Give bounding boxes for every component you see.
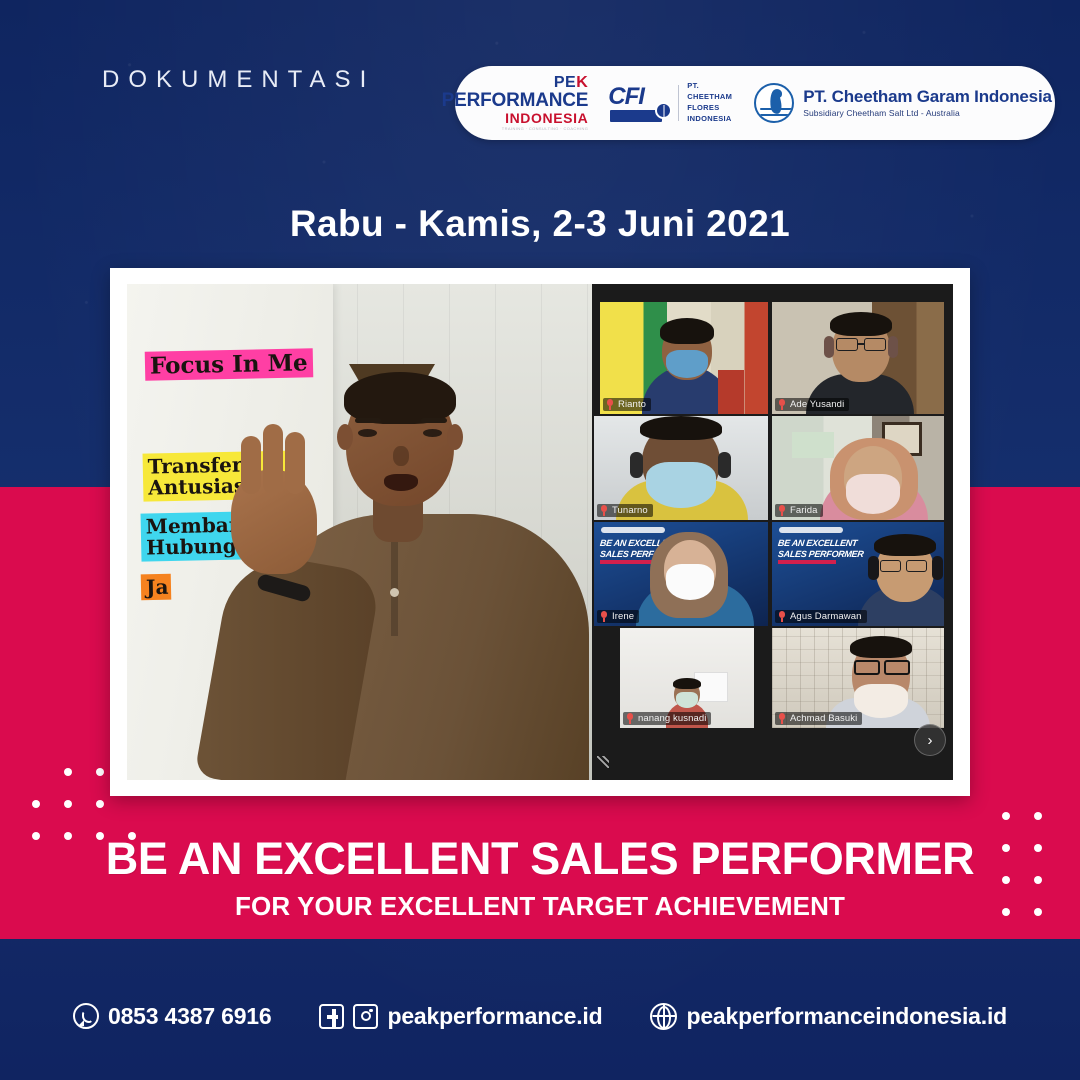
- participant-hair: [830, 312, 892, 336]
- camera-dot-shape: [369, 1009, 373, 1013]
- dot: [64, 800, 72, 808]
- video-canvas: Focus In Me Transfer Antusiasme Membangu…: [127, 284, 953, 780]
- participant-name-label: Farida: [775, 504, 823, 517]
- mic-muted-icon: [778, 505, 786, 516]
- participant-name: Farida: [790, 505, 818, 516]
- speaker-video-pane[interactable]: Focus In Me Transfer Antusiasme Membangu…: [127, 284, 592, 780]
- dot: [32, 800, 40, 808]
- seahorse-head-shape: [772, 89, 782, 98]
- sticky-note-partial: Ja: [141, 574, 172, 601]
- participant-gallery: Rianto Ade Yusandi: [592, 284, 952, 780]
- participant-face-mask: [646, 462, 716, 508]
- speaker-ear-left: [337, 424, 353, 450]
- cfi-globe-icon: [655, 102, 672, 119]
- participant-name: Achmad Basuki: [790, 713, 857, 724]
- participant-eyeglasses-right: [864, 338, 886, 351]
- chevron-right-icon: ›: [928, 732, 933, 749]
- sponsor-logo-bar: PEK PERFORMANCE INDONESIA TRAINING · CON…: [455, 66, 1055, 140]
- speaker-eye-right: [423, 429, 442, 437]
- dot: [96, 800, 104, 808]
- website-url: peakperformanceindonesia.id: [686, 1003, 1007, 1030]
- participant-name-label: Rianto: [603, 398, 651, 411]
- speaker-brow-left: [355, 418, 381, 423]
- peak-logo-tagline: TRAINING · CONSULTING · COACHING: [502, 127, 589, 131]
- dot: [1034, 812, 1042, 820]
- participant-face-mask: [666, 564, 714, 600]
- participant-headphone-left: [630, 452, 643, 478]
- speaker-ear-right: [447, 424, 463, 450]
- participant-hair: [673, 678, 701, 689]
- speaker-eye-left: [358, 429, 377, 437]
- speaker-hand: [231, 470, 317, 574]
- slide-accent-bar: [778, 560, 836, 564]
- cfi-subtext: PT. CHEETHAM FLORES INDONESIA: [687, 81, 732, 125]
- participant-tile[interactable]: BE AN EXCELLENT SALES PERFORMER Irene: [594, 522, 768, 626]
- speaker-figure: [223, 350, 592, 780]
- cfi-subtext-line1: PT.: [687, 81, 732, 92]
- peak-performance-logo: PEK PERFORMANCE INDONESIA TRAINING · CON…: [458, 75, 598, 131]
- cfi-wordmark: CFI: [608, 83, 644, 111]
- speaker-brow-right: [421, 418, 447, 423]
- participant-name-label: nanang kusnadi: [623, 712, 711, 725]
- headline-block: BE AN EXCELLENT SALES PERFORMER FOR YOUR…: [0, 836, 1080, 922]
- participant-eyeglasses-right: [884, 660, 910, 675]
- participant-eyeglasses-right: [906, 560, 927, 572]
- cheetham-company-name: PT. Cheetham Garam Indonesia: [803, 88, 1052, 106]
- dot: [96, 768, 104, 776]
- slide-status-bar: [779, 527, 843, 533]
- participant-eyeglasses-bridge: [858, 343, 864, 345]
- peak-logo-line3: INDONESIA: [505, 111, 588, 125]
- event-date: Rabu - Kamis, 2-3 Juni 2021: [0, 203, 1080, 245]
- participant-name-label: Achmad Basuki: [775, 712, 862, 725]
- next-page-button[interactable]: ›: [914, 724, 946, 756]
- whatsapp-icon: [73, 1003, 99, 1029]
- participant-hair: [874, 534, 936, 556]
- participant-headphone-left: [868, 556, 879, 580]
- mic-muted-icon: [600, 505, 608, 516]
- participant-face-mask: [676, 692, 698, 708]
- participant-eyeglasses-left: [880, 560, 901, 572]
- participant-eyeglasses-left: [836, 338, 858, 351]
- dot: [1002, 812, 1010, 820]
- cheetham-subsidiary-line: Subsidiary Cheetham Salt Ltd - Australia: [803, 108, 1052, 118]
- participant-name-label: Ade Yusandi: [775, 398, 849, 411]
- slide-status-bar: [601, 527, 665, 533]
- speaker-nose: [393, 446, 409, 466]
- speaker-shirt-button: [390, 588, 399, 597]
- participant-name-label: Tunarno: [597, 504, 653, 517]
- cheetham-garam-logo: PT. Cheetham Garam Indonesia Subsidiary …: [742, 83, 1052, 123]
- mic-muted-icon: [778, 611, 786, 622]
- participant-tile[interactable]: Tunarno: [594, 416, 768, 520]
- peak-logo-pea: PE: [554, 74, 576, 91]
- f-glyph: [330, 1009, 337, 1028]
- resize-handle[interactable]: [597, 756, 609, 768]
- dot: [32, 768, 40, 776]
- peak-logo-performance: PERFORMANCE: [442, 91, 589, 110]
- participant-tile[interactable]: Rianto: [600, 302, 768, 414]
- participant-name-label: Agus Darmawan: [775, 610, 867, 623]
- mic-muted-icon: [626, 713, 634, 724]
- event-headline: BE AN EXCELLENT SALES PERFORMER: [0, 836, 1080, 882]
- participant-headphone-right: [932, 556, 943, 580]
- participant-face-mask: [854, 684, 908, 718]
- speaker-mouth: [384, 474, 418, 491]
- participant-name: Irene: [612, 611, 634, 622]
- mic-muted-icon: [778, 399, 786, 410]
- wall-poster: [792, 432, 834, 458]
- participant-name: Rianto: [618, 399, 646, 410]
- speaker-finger: [241, 436, 261, 494]
- website-contact[interactable]: peakperformanceindonesia.id: [650, 1003, 1007, 1030]
- participant-tile[interactable]: Farida: [772, 416, 944, 520]
- phone-number: 0853 4387 6916: [108, 1003, 271, 1030]
- speaker-finger: [285, 432, 305, 494]
- slide-headline-line2: SALES PERFORMER: [777, 549, 864, 559]
- participant-headphone-right: [718, 452, 731, 478]
- wave-line-1: [760, 108, 792, 110]
- cfi-subtext-line3: FLORES: [687, 103, 732, 114]
- dot: [64, 768, 72, 776]
- participant-name: nanang kusnadi: [638, 713, 706, 724]
- participant-hair: [850, 636, 912, 658]
- cfi-subtext-line4: INDONESIA: [687, 114, 732, 125]
- social-contact[interactable]: peakperformance.id: [319, 1003, 602, 1030]
- participant-shoulder: [718, 370, 744, 414]
- social-handle: peakperformance.id: [387, 1003, 602, 1030]
- slide-headline-line1: BE AN EXCELLENT: [777, 538, 857, 548]
- participant-eyeglasses-left: [854, 660, 880, 675]
- globe-icon: [650, 1003, 677, 1030]
- peak-logo-k: K: [576, 74, 588, 91]
- bubble-tail-shape: [78, 1020, 84, 1026]
- cfi-mark-icon: CFI: [608, 83, 670, 123]
- speaker-finger: [263, 424, 283, 494]
- page-title: DOKUMENTASI: [102, 66, 375, 94]
- whatsapp-contact[interactable]: 0853 4387 6916: [73, 1003, 271, 1030]
- contact-footer: 0853 4387 6916 peakperformance.id peakpe…: [0, 990, 1080, 1042]
- logo-divider: [678, 85, 679, 121]
- camera-lens-shape: [361, 1011, 371, 1021]
- speaker-hair: [344, 372, 456, 424]
- participant-tile[interactable]: BE AN EXCELLENT SALES PERFORMER Agus Dar…: [772, 522, 944, 626]
- peak-logo-line1: PEK: [554, 75, 588, 91]
- globe-meridian-shape: [657, 1006, 671, 1029]
- participant-headphone-right: [888, 336, 898, 358]
- cheetham-text-block: PT. Cheetham Garam Indonesia Subsidiary …: [803, 88, 1052, 118]
- participant-face-mask: [666, 350, 708, 378]
- dot: [128, 800, 136, 808]
- participant-headphone-left: [824, 336, 834, 358]
- cfi-logo: CFI PT. CHEETHAM FLORES INDONESIA: [598, 81, 742, 125]
- cfi-subtext-line2: CHEETHAM: [687, 92, 732, 103]
- mic-muted-icon: [600, 611, 608, 622]
- participant-name-label: Irene: [597, 610, 639, 623]
- participant-hair: [640, 416, 722, 440]
- video-conference-screenshot: Focus In Me Transfer Antusiasme Membangu…: [110, 268, 970, 796]
- wave-line-2: [760, 114, 792, 116]
- mic-muted-icon: [778, 713, 786, 724]
- participant-face-mask: [846, 474, 900, 514]
- mic-muted-icon: [606, 399, 614, 410]
- facebook-icon: [319, 1004, 344, 1029]
- participant-name: Agus Darmawan: [790, 611, 862, 622]
- participant-name: Tunarno: [612, 505, 648, 516]
- peak-logo-line2: PERFORMANCE: [442, 91, 589, 110]
- participant-tile[interactable]: Achmad Basuki: [772, 628, 944, 728]
- participant-name: Ade Yusandi: [790, 399, 844, 410]
- poster-canvas: DOKUMENTASI PEK PERFORMANCE INDONESIA TR…: [0, 0, 1080, 1080]
- participant-tile[interactable]: Ade Yusandi: [772, 302, 944, 414]
- event-subheadline: FOR YOUR EXCELLENT TARGET ACHIEVEMENT: [0, 891, 1080, 922]
- slide-accent-bar: [600, 560, 658, 564]
- seahorse-icon: [754, 83, 794, 123]
- participant-hair: [660, 318, 714, 344]
- participant-tile[interactable]: nanang kusnadi: [620, 628, 754, 728]
- instagram-icon: [353, 1004, 378, 1029]
